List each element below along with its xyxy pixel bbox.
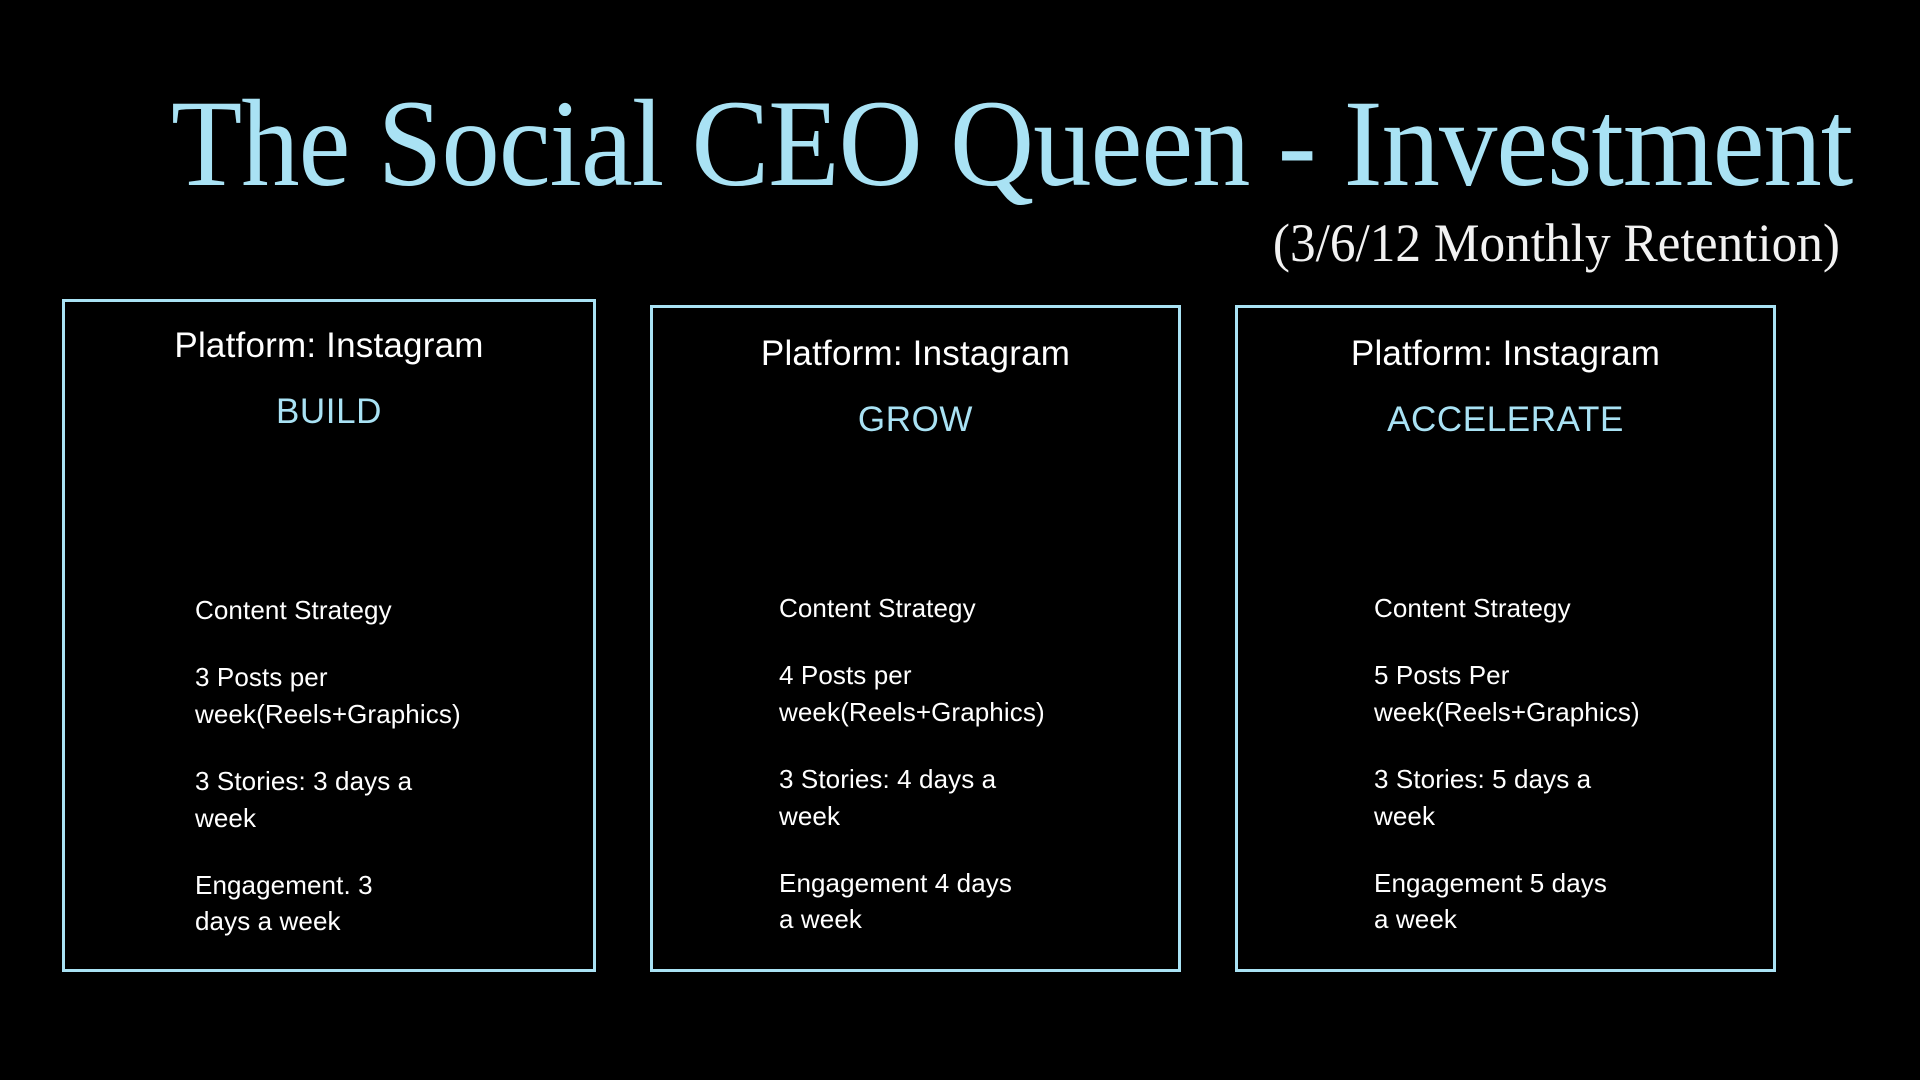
pricing-card-grow[interactable]: Platform: Instagram GROW Content Strateg… (650, 305, 1181, 972)
card-header: Platform: Instagram GROW (653, 334, 1178, 441)
card-line: 3 Stories: 3 days a week (195, 763, 567, 837)
card-header: Platform: Instagram ACCELERATE (1238, 334, 1773, 441)
card-body: Content Strategy 5 Posts Per week(Reels+… (1238, 590, 1773, 938)
card-line: 3 Posts per week(Reels+Graphics) (195, 659, 567, 733)
page-subtitle: (3/6/12 Monthly Retention) (567, 216, 1840, 270)
card-line: 3 Stories: 5 days a week (1374, 761, 1747, 835)
pricing-card-build[interactable]: Platform: Instagram BUILD Content Strate… (62, 299, 596, 972)
card-line: Engagement 5 days a week (1374, 865, 1747, 939)
card-platform-label: Platform: Instagram (653, 334, 1178, 374)
card-line: 3 Stories: 4 days a week (779, 761, 1152, 835)
card-line: Engagement 4 days a week (779, 865, 1152, 939)
card-line: Content Strategy (779, 590, 1152, 627)
card-line: Engagement. 3 days a week (195, 867, 567, 941)
card-tier-name: GROW (653, 400, 1178, 440)
slide-canvas: The Social CEO Queen - Investment (3/6/1… (0, 0, 1920, 1080)
card-body: Content Strategy 4 Posts per week(Reels+… (653, 590, 1178, 938)
card-line: Content Strategy (195, 592, 567, 629)
card-platform-label: Platform: Instagram (65, 326, 593, 366)
card-tier-name: BUILD (65, 392, 593, 432)
card-body: Content Strategy 3 Posts per week(Reels+… (65, 592, 593, 940)
card-line: Content Strategy (1374, 590, 1747, 627)
page-title: The Social CEO Queen - Investment (171, 82, 1769, 206)
pricing-card-accelerate[interactable]: Platform: Instagram ACCELERATE Content S… (1235, 305, 1776, 972)
card-tier-name: ACCELERATE (1238, 400, 1773, 440)
card-line: 4 Posts per week(Reels+Graphics) (779, 657, 1152, 731)
card-platform-label: Platform: Instagram (1238, 334, 1773, 374)
card-line: 5 Posts Per week(Reels+Graphics) (1374, 657, 1747, 731)
card-header: Platform: Instagram BUILD (65, 326, 593, 433)
